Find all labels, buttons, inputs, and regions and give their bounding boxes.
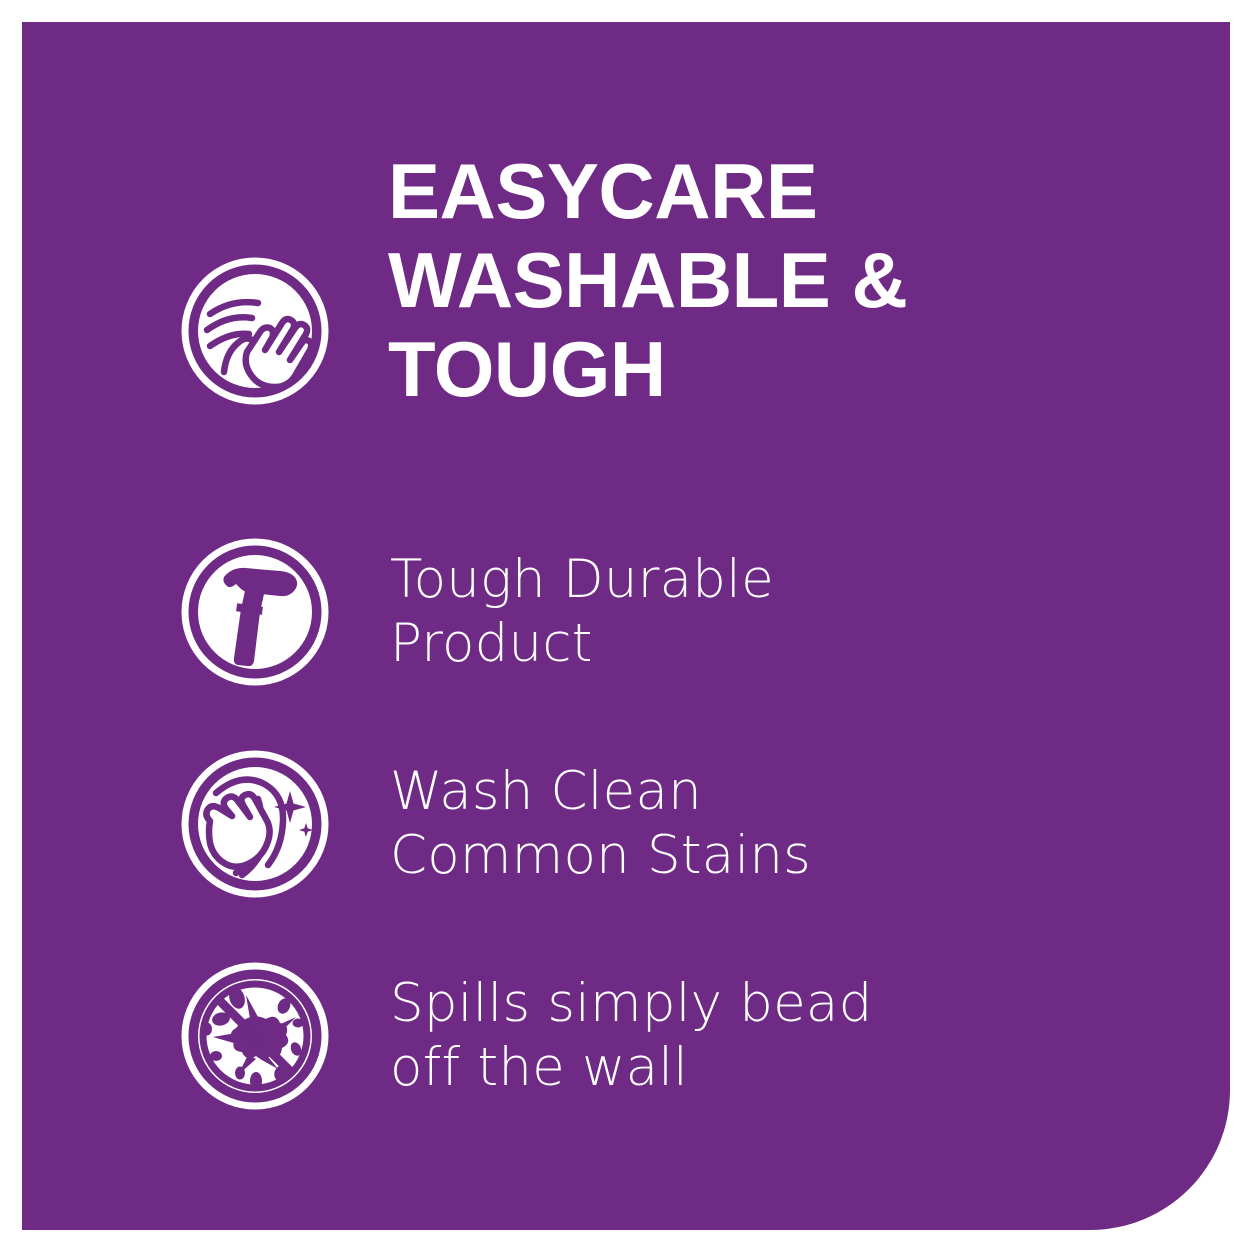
feature-label-durable: Tough Durable Product bbox=[390, 548, 1180, 675]
washing-hands-icon bbox=[180, 256, 330, 406]
purple-panel: EASYCARE WASHABLE & TOUGH bbox=[22, 22, 1230, 1230]
feature-row-durable: Tough Durable Product bbox=[180, 537, 1180, 687]
no-splatter-icon bbox=[180, 961, 330, 1111]
feature-row-wash-clean: Wash Clean Common Stains bbox=[180, 749, 1180, 899]
hand-wiping-sparkle-icon bbox=[180, 749, 330, 899]
feature-label-spills: Spills simply bead off the wall bbox=[390, 972, 1180, 1099]
feature-row-spills: Spills simply bead off the wall bbox=[180, 961, 1180, 1111]
feature-row-easycare bbox=[180, 256, 1180, 406]
feature-label-wash-clean: Wash Clean Common Stains bbox=[390, 760, 1180, 887]
hammer-icon bbox=[180, 537, 330, 687]
